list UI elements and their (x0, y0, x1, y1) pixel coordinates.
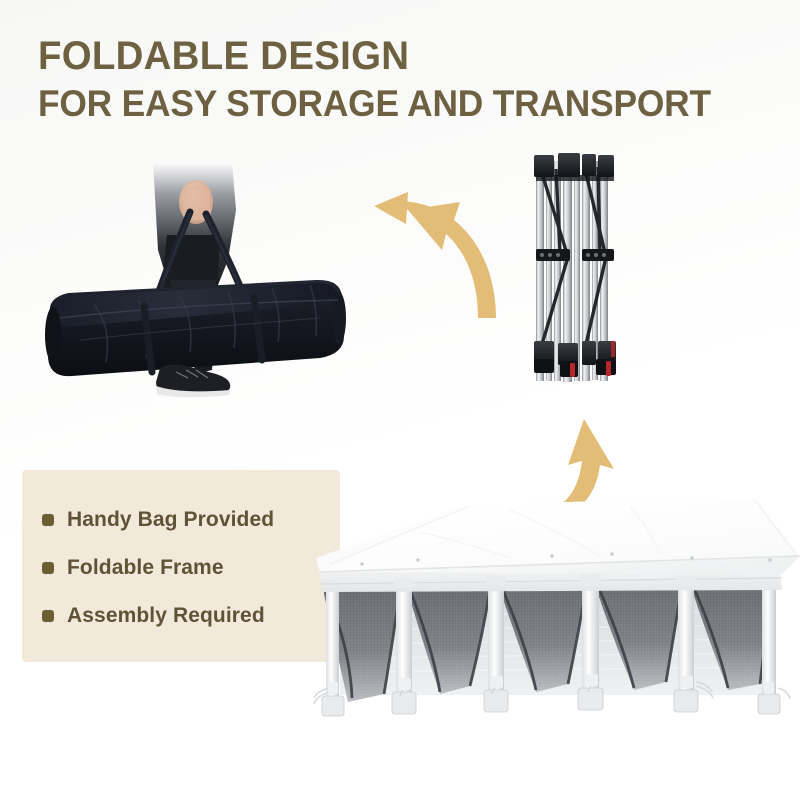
bullet-icon (42, 562, 54, 574)
bullet-icon (42, 514, 54, 526)
top-connectors (534, 153, 614, 181)
list-item-label: Foldable Frame (67, 556, 224, 580)
canopy-roof (316, 498, 800, 574)
list-item: Assembly Required (42, 604, 265, 628)
page-title: FOLDABLE DESIGN FOR EASY STORAGE AND TRA… (38, 34, 738, 126)
carry-bag-image (20, 140, 350, 410)
list-item: Handy Bag Provided (42, 508, 274, 532)
curved-arrow-left-icon (368, 172, 508, 322)
folded-frame-image (510, 145, 640, 395)
bullet-icon (42, 610, 54, 622)
bottom-connectors (534, 341, 616, 377)
headline-line-1: FOLDABLE DESIGN (38, 34, 710, 78)
list-item-label: Handy Bag Provided (67, 508, 274, 532)
storage-bag (45, 280, 346, 376)
headline-line-2: FOR EASY STORAGE AND TRANSPORT (38, 82, 707, 126)
shoe (156, 364, 230, 397)
list-item: Foldable Frame (42, 556, 224, 580)
gazebo-image (300, 498, 800, 760)
list-item-label: Assembly Required (67, 604, 265, 628)
infographic-canvas: FOLDABLE DESIGN FOR EASY STORAGE AND TRA… (0, 0, 800, 800)
feature-list-card: Handy Bag Provided Foldable Frame Assemb… (22, 470, 340, 662)
